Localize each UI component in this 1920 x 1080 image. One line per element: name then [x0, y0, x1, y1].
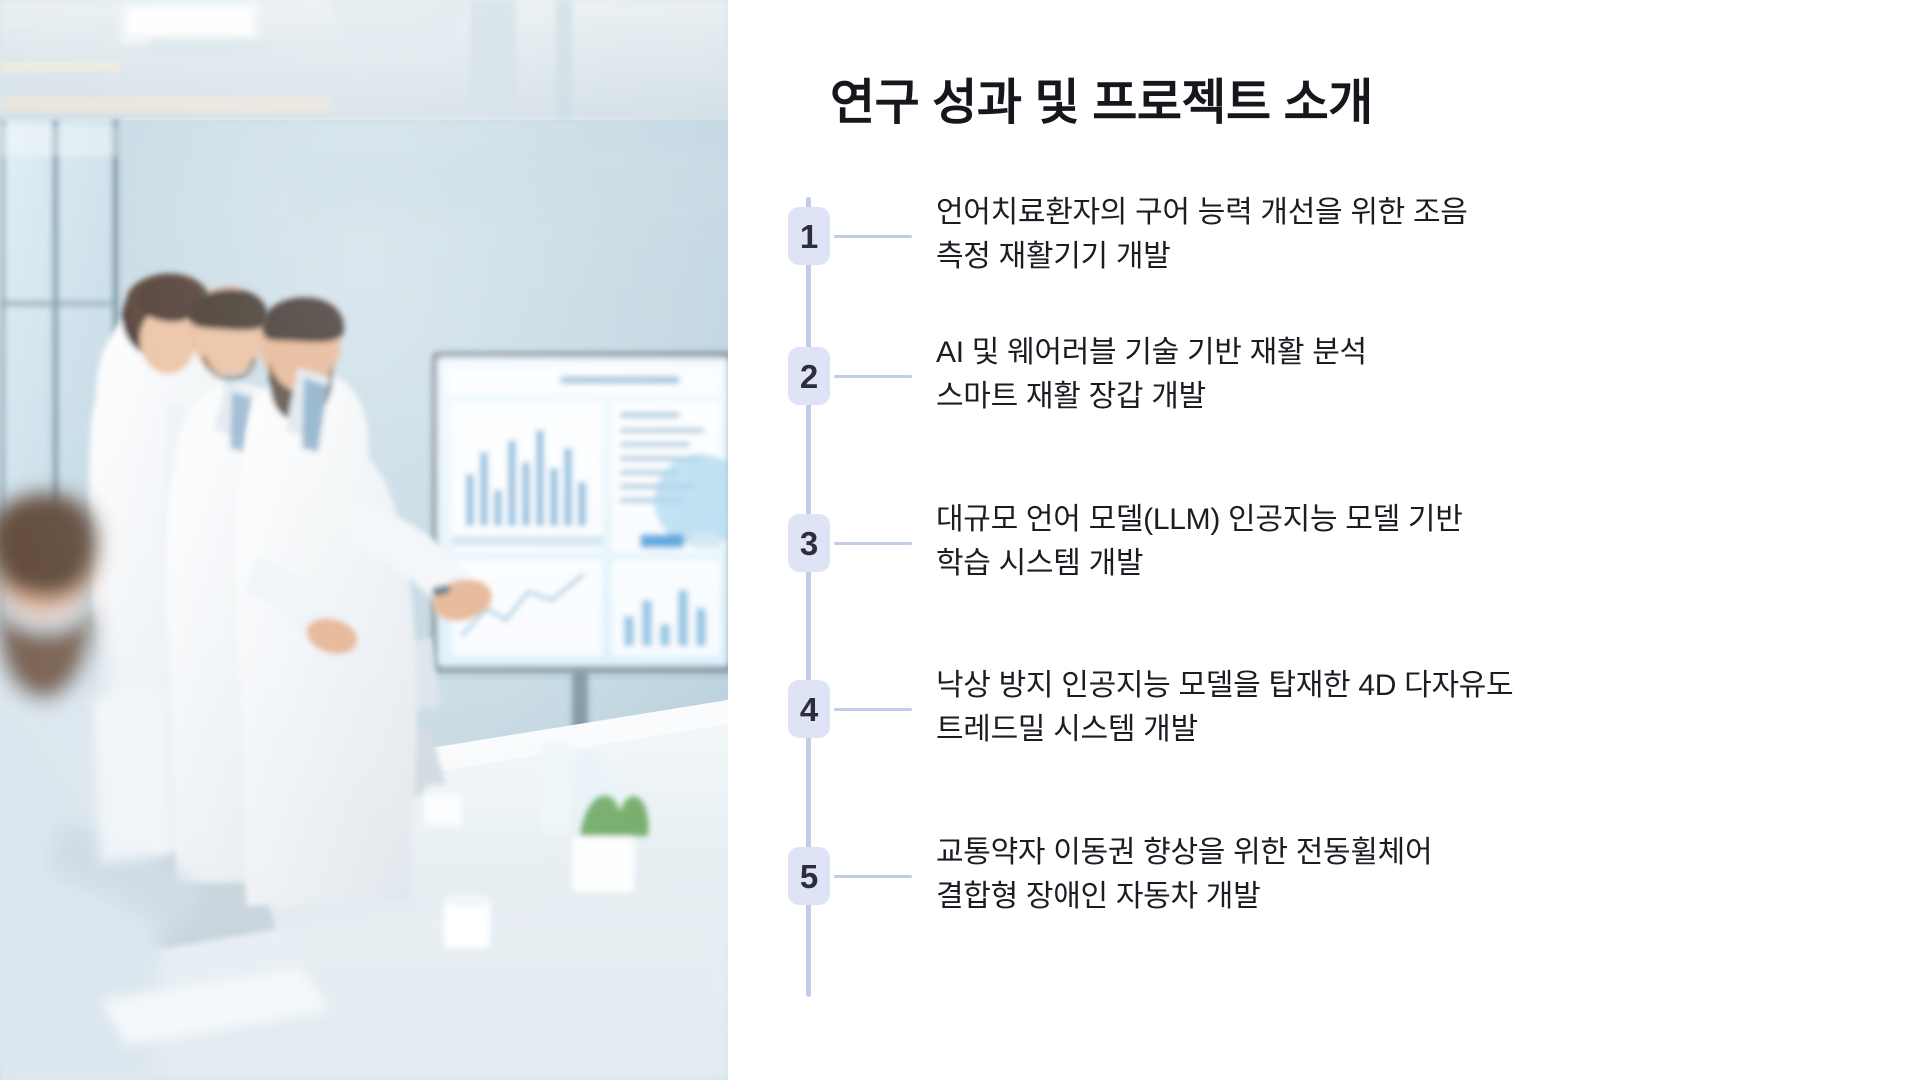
timeline-text-4: 낙상 방지 인공지능 모델을 탑재한 4D 다자유도 트레드밀 시스템 개발 [936, 664, 1836, 752]
photo-illustration [0, 0, 728, 1080]
timeline-connector-1 [834, 235, 912, 238]
timeline-connector-2 [834, 375, 912, 378]
timeline-badge-4: 4 [788, 680, 830, 738]
timeline-item-2[interactable]: 2 AI 및 웨어러블 기술 기반 재활 분석 스마트 재활 장갑 개발 [788, 325, 1848, 445]
timeline-text-3: 대규모 언어 모델(LLM) 인공지능 모델 기반 학습 시스템 개발 [936, 498, 1836, 586]
timeline-text-1-line1: 언어치료환자의 구어 능력 개선을 위한 조음 [936, 191, 1836, 235]
timeline-text-2-line1: AI 및 웨어러블 기술 기반 재활 분석 [936, 331, 1836, 375]
timeline-connector-5 [834, 875, 912, 878]
timeline-text-1-line2: 측정 재활기기 개발 [936, 235, 1836, 279]
timeline-text-5: 교통약자 이동권 향상을 위한 전동휠체어 결합형 장애인 자동차 개발 [936, 831, 1836, 919]
timeline: 1 언어치료환자의 구어 능력 개선을 위한 조음 측정 재활기기 개발 2 A… [788, 185, 1848, 1015]
timeline-text-4-line2: 트레드밀 시스템 개발 [936, 708, 1836, 752]
timeline-connector-3 [834, 542, 912, 545]
timeline-badge-1: 1 [788, 207, 830, 265]
timeline-text-5-line2: 결합형 장애인 자동차 개발 [936, 875, 1836, 919]
timeline-text-4-line1: 낙상 방지 인공지능 모델을 탑재한 4D 다자유도 [936, 664, 1836, 708]
timeline-text-1: 언어치료환자의 구어 능력 개선을 위한 조음 측정 재활기기 개발 [936, 191, 1836, 279]
timeline-text-2-line2: 스마트 재활 장갑 개발 [936, 375, 1836, 419]
timeline-badge-2: 2 [788, 347, 830, 405]
conference-room-presentation-photo [0, 0, 728, 1080]
slide-content-panel: 연구 성과 및 프로젝트 소개 1 언어치료환자의 구어 능력 개선을 위한 조… [728, 0, 1920, 1080]
timeline-item-1[interactable]: 1 언어치료환자의 구어 능력 개선을 위한 조음 측정 재활기기 개발 [788, 185, 1848, 305]
timeline-connector-4 [834, 708, 912, 711]
timeline-item-3[interactable]: 3 대규모 언어 모델(LLM) 인공지능 모델 기반 학습 시스템 개발 [788, 492, 1848, 612]
presentation-slide: 연구 성과 및 프로젝트 소개 1 언어치료환자의 구어 능력 개선을 위한 조… [0, 0, 1920, 1080]
timeline-text-5-line1: 교통약자 이동권 향상을 위한 전동휠체어 [936, 831, 1836, 875]
page-title: 연구 성과 및 프로젝트 소개 [830, 75, 1730, 131]
timeline-text-2: AI 및 웨어러블 기술 기반 재활 분석 스마트 재활 장갑 개발 [936, 331, 1836, 419]
timeline-badge-3: 3 [788, 514, 830, 572]
timeline-item-4[interactable]: 4 낙상 방지 인공지능 모델을 탑재한 4D 다자유도 트레드밀 시스템 개발 [788, 658, 1848, 778]
timeline-text-3-line2: 학습 시스템 개발 [936, 542, 1836, 586]
timeline-badge-5: 5 [788, 847, 830, 905]
timeline-text-3-line1: 대규모 언어 모델(LLM) 인공지능 모델 기반 [936, 498, 1836, 542]
timeline-item-5[interactable]: 5 교통약자 이동권 향상을 위한 전동휠체어 결합형 장애인 자동차 개발 [788, 825, 1848, 945]
